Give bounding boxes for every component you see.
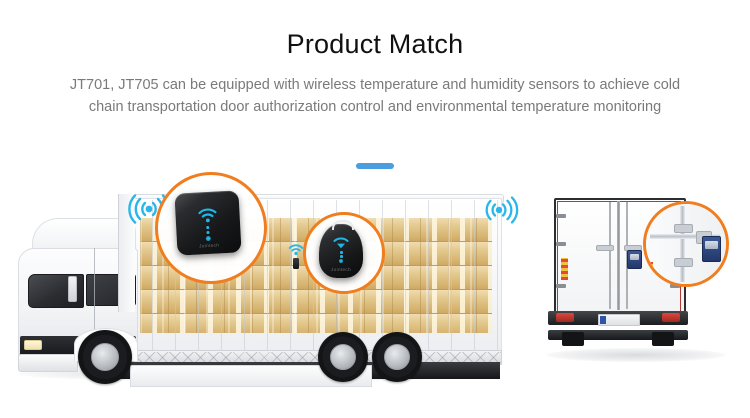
- callout-door-lock-sensor: [702, 236, 721, 262]
- device-led-1: [340, 251, 343, 254]
- door-locking-bar-left: [609, 202, 611, 309]
- rear-truck-illustration: [540, 180, 740, 400]
- callout-bar-keeper-top: [674, 224, 693, 233]
- cab-headlight: [24, 340, 42, 350]
- device-jt705: Jointech: [319, 224, 363, 278]
- callout-reflector: [648, 262, 653, 282]
- door-handle-left: [596, 245, 614, 251]
- device-brand-label: Jointech: [177, 241, 241, 249]
- door-hinge: [556, 242, 566, 246]
- wheel-hub: [330, 344, 356, 370]
- section-divider-icon: [356, 163, 394, 169]
- callout-bar-keeper-bottom: [674, 258, 693, 267]
- rear-tire-right: [652, 332, 674, 346]
- license-plate: [598, 314, 640, 326]
- wifi-icon-device-jt701: [196, 207, 219, 223]
- rear-wheel-1: [318, 332, 368, 382]
- product-match-banner: Product Match JT701, JT705 can be equipp…: [0, 0, 750, 418]
- device-jt701: Jointech: [174, 190, 241, 255]
- cab-mirror: [68, 276, 77, 302]
- device-led-3: [339, 259, 343, 263]
- rear-wheel-2: [372, 332, 422, 382]
- device-lanyard-slot: [332, 220, 354, 230]
- front-wheel: [78, 330, 132, 384]
- header: Product Match JT701, JT705 can be equipp…: [0, 0, 750, 119]
- door-hinge: [556, 284, 566, 288]
- device-led-3: [206, 236, 211, 241]
- rear-door-split: [617, 201, 620, 310]
- wifi-icon-device-jt705: [332, 237, 350, 250]
- device-led-1: [206, 226, 209, 229]
- wheel-hub: [91, 343, 119, 371]
- rear-truck-shadow: [546, 348, 726, 362]
- callout-door-lock: [643, 201, 729, 287]
- page-subtitle: JT701, JT705 can be equipped with wirele…: [65, 74, 685, 119]
- rear-tire-left: [562, 332, 584, 346]
- cab-door-seam: [94, 248, 95, 338]
- taillight-left: [556, 313, 574, 322]
- callout-vertical-bar: [680, 206, 685, 282]
- wheel-hub: [384, 344, 410, 370]
- door-reflector-left: [561, 258, 568, 280]
- side-truck-illustration: Jointech Jointech: [0, 170, 520, 418]
- door-hinge: [556, 214, 566, 218]
- inner-temperature-sensor: [293, 258, 299, 269]
- taillight-right: [662, 313, 680, 322]
- plate-eu-band: [600, 316, 606, 324]
- device-led-2: [206, 231, 209, 234]
- page-title: Product Match: [0, 0, 750, 60]
- door-lock-sensor: [627, 250, 642, 269]
- wifi-icon-cargo-rear: [478, 196, 520, 229]
- device-brand-label: Jointech: [319, 267, 363, 272]
- device-led-2: [340, 255, 343, 258]
- illustration-scene: Jointech Jointech: [0, 170, 750, 418]
- cab-bumper: [18, 354, 78, 372]
